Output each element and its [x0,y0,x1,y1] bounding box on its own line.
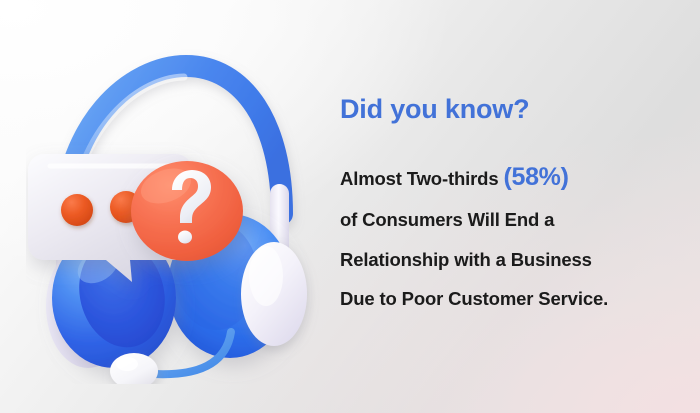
statistic-highlight: (58%) [503,163,568,191]
stat-line-4: Due to Poor Customer Service. [340,290,670,309]
right-ear-pad [241,242,307,346]
headset-illustration [26,44,326,384]
infographic-canvas: Did you know? Almost Two-thirds (58%) of… [0,0,700,413]
copy-block: Did you know? Almost Two-thirds (58%) of… [340,96,670,309]
page-title: Did you know? [340,96,670,123]
stat-line-2: of Consumers Will End a [340,211,670,230]
stat-line-1-text: Almost Two-thirds [340,168,503,189]
stat-line-3: Relationship with a Business [340,251,670,270]
chat-dot [61,194,93,226]
stat-line-1: Almost Two-thirds (58%) [340,165,670,190]
